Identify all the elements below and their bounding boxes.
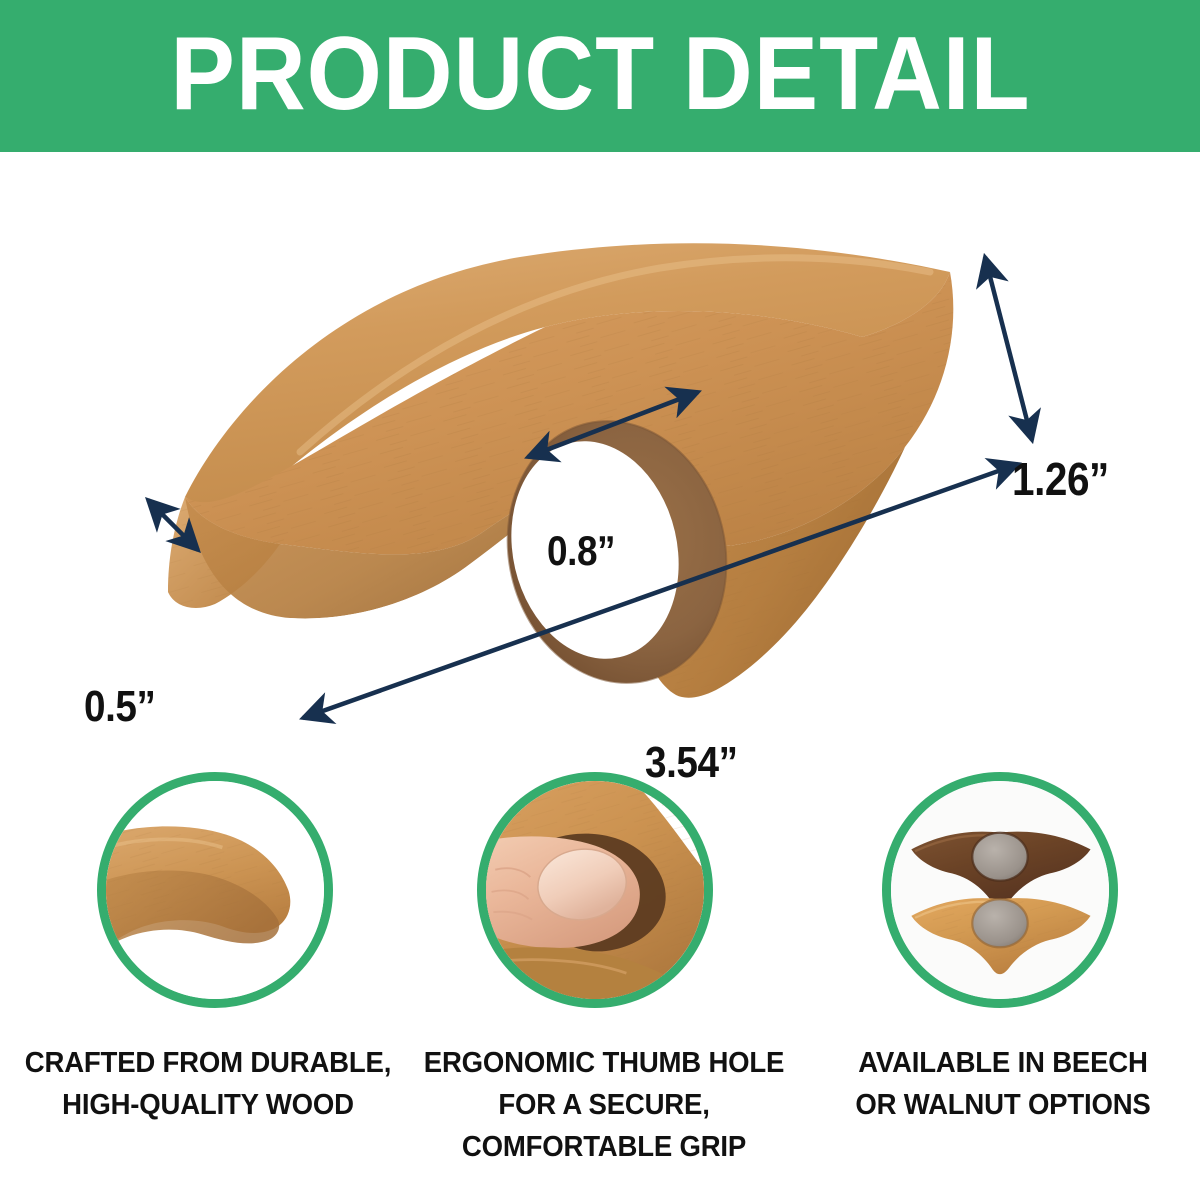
dimension-label-height: 1.26” bbox=[1012, 452, 1109, 506]
feature-circles-row bbox=[0, 766, 1200, 1026]
page-title: PRODUCT DETAIL bbox=[170, 22, 1030, 126]
hero-product-illustration: 1.26” 0.8” 0.5” 3.54” bbox=[0, 152, 1200, 772]
caption-line: AVAILABLE IN BEECH bbox=[820, 1042, 1187, 1084]
wood-closeup-photo bbox=[106, 781, 324, 999]
caption-line: FOR A SECURE, bbox=[418, 1084, 790, 1126]
dimension-arrow-height bbox=[985, 257, 1032, 440]
feature-circle-material bbox=[97, 772, 333, 1008]
dimension-label-thumb-hole: 0.8” bbox=[547, 527, 615, 575]
product-detail-infographic: PRODUCT DETAIL bbox=[0, 0, 1200, 1200]
caption-line: COMFORTABLE GRIP bbox=[418, 1126, 790, 1168]
caption-line: ERGONOMIC THUMB HOLE bbox=[418, 1042, 790, 1084]
caption-line: OR WALNUT OPTIONS bbox=[820, 1084, 1187, 1126]
feature-caption-thumb-hole: ERGONOMIC THUMB HOLE FOR A SECURE, COMFO… bbox=[408, 1042, 800, 1168]
feature-circle-wood-options bbox=[882, 772, 1118, 1008]
thumb-grip-photo bbox=[486, 781, 704, 999]
feature-captions-row: CRAFTED FROM DURABLE, HIGH-QUALITY WOOD … bbox=[0, 1036, 1200, 1200]
dimension-label-thickness: 0.5” bbox=[84, 682, 155, 732]
feature-caption-wood-options: AVAILABLE IN BEECH OR WALNUT OPTIONS bbox=[810, 1042, 1196, 1126]
wood-tool-body bbox=[168, 243, 953, 705]
wood-options-photo bbox=[891, 781, 1109, 999]
header-banner: PRODUCT DETAIL bbox=[0, 0, 1200, 152]
feature-circle-thumb-hole bbox=[477, 772, 713, 1008]
feature-caption-material: CRAFTED FROM DURABLE, HIGH-QUALITY WOOD bbox=[8, 1042, 408, 1126]
caption-line: HIGH-QUALITY WOOD bbox=[18, 1084, 398, 1126]
caption-line: CRAFTED FROM DURABLE, bbox=[18, 1042, 398, 1084]
